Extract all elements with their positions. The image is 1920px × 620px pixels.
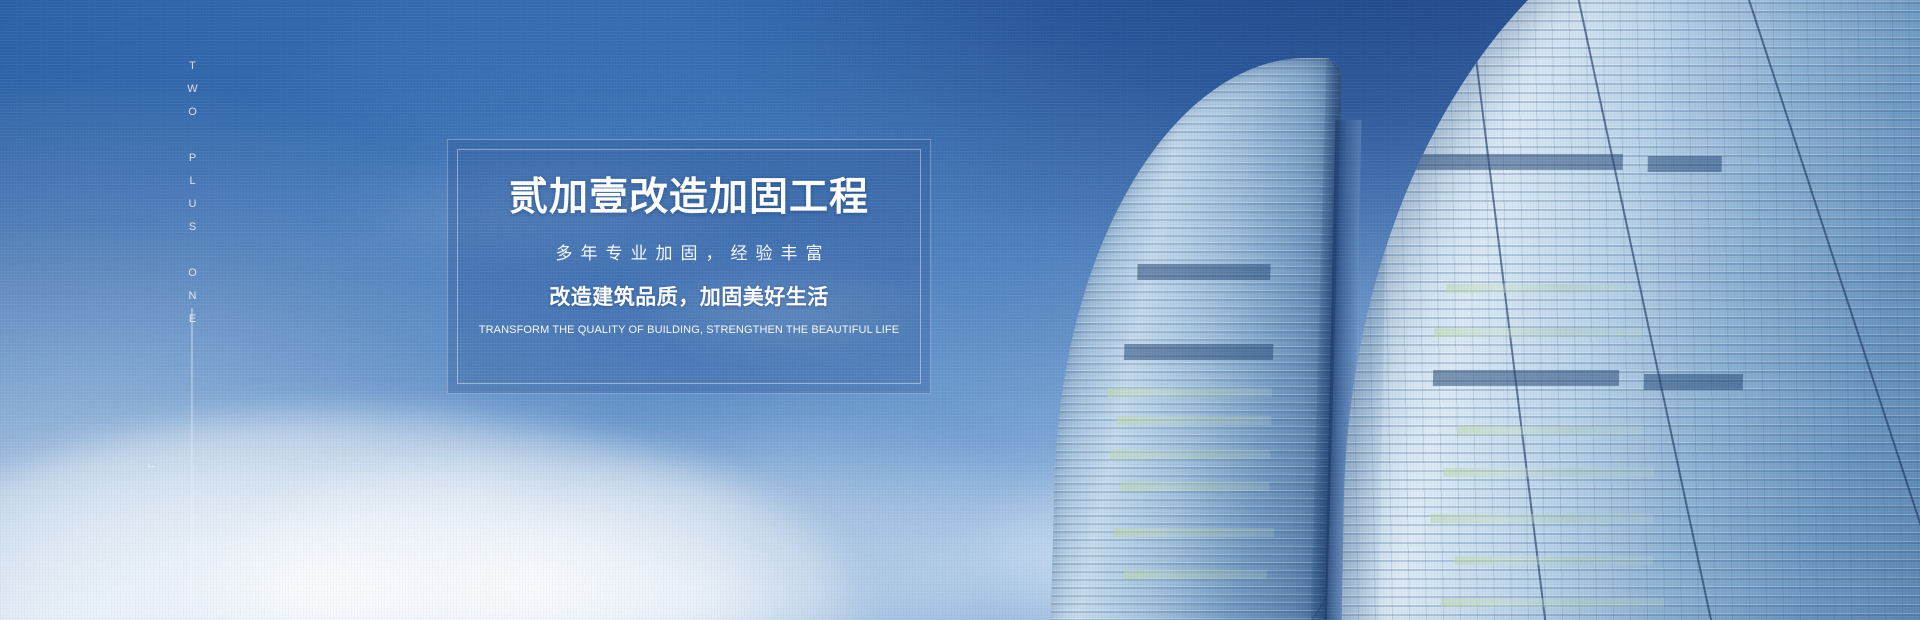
brand-vertical-divider	[192, 308, 193, 600]
lit-window-row	[1447, 284, 1633, 293]
tower-dark-band	[1137, 264, 1270, 280]
lit-window-row	[1457, 426, 1643, 435]
lit-window-row	[1430, 514, 1653, 523]
lit-window-row	[1443, 468, 1654, 477]
hero-banner: TWO PLUS ONE 1 贰加壹改造加固工程 多年专业加固，经验丰富 改造建…	[0, 0, 1920, 620]
tower-dark-band	[1412, 154, 1623, 170]
tower-mullions	[1341, 0, 1920, 620]
brand-vertical-rail: TWO PLUS ONE 1	[184, 60, 200, 600]
card-content: 贰加壹改造加固工程 多年专业加固，经验丰富 改造建筑品质，加固美好生活 TRAN…	[448, 140, 930, 393]
lit-window-row	[1117, 416, 1272, 425]
tower-dark-band	[1643, 374, 1742, 390]
curved-glass-tower-left	[1050, 58, 1343, 620]
hero-tagline: 改造建筑品质，加固美好生活	[549, 287, 829, 308]
skyscraper-scene	[1030, 0, 1920, 620]
lit-window-row	[1110, 450, 1270, 459]
hero-subline: 多年专业加固，经验丰富	[548, 245, 831, 262]
lit-window-row	[1114, 528, 1274, 537]
lit-window-row	[1107, 388, 1273, 397]
hero-english-tagline: TRANSFORM THE QUALITY OF BUILDING, STREN…	[479, 325, 899, 336]
brand-tick-label: 1	[146, 464, 156, 470]
lit-window-row	[1454, 556, 1653, 565]
tower-dark-band	[1124, 344, 1273, 360]
hero-text-card: 贰加壹改造加固工程 多年专业加固，经验丰富 改造建筑品质，加固美好生活 TRAN…	[447, 139, 931, 394]
lit-window-row	[1441, 598, 1664, 607]
hero-headline: 贰加壹改造加固工程	[509, 178, 869, 217]
brand-vertical-text: TWO PLUS ONE	[187, 60, 198, 336]
tower-dark-band	[1433, 370, 1619, 386]
tower-dark-band	[1647, 156, 1722, 172]
lit-window-row	[1124, 570, 1268, 579]
lit-window-row	[1121, 482, 1270, 491]
curved-glass-tower-right	[1341, 0, 1920, 620]
lit-window-row	[1434, 328, 1645, 337]
